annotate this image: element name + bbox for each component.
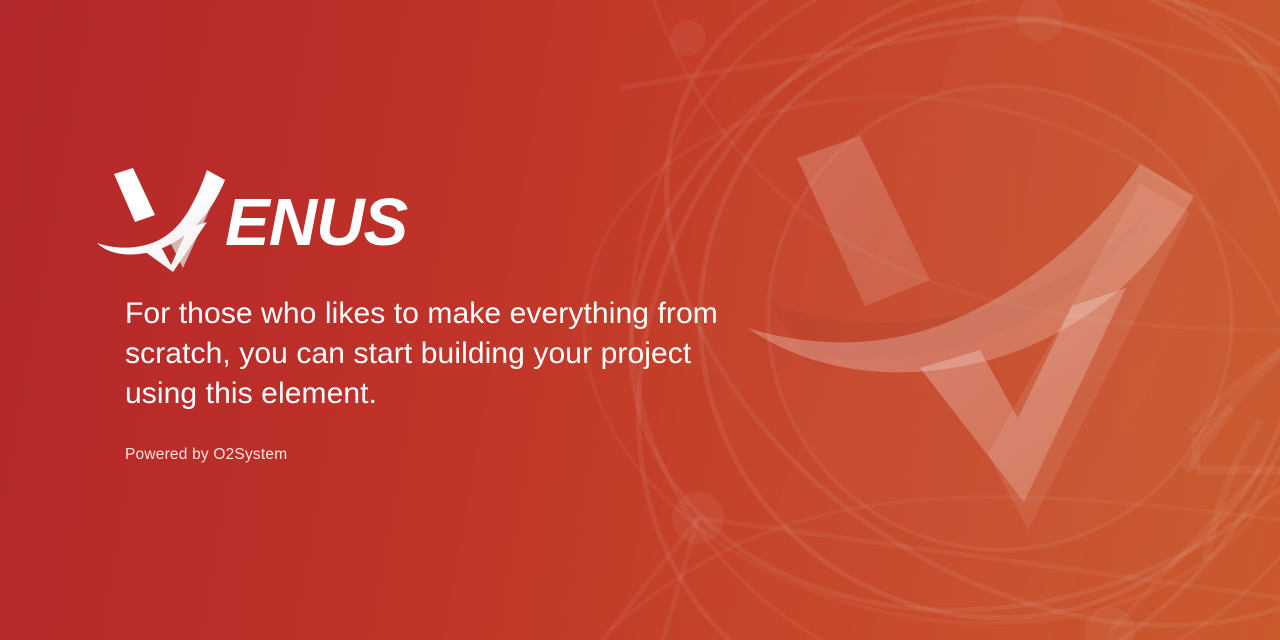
brand-logo-lockup[interactable]: ENUS (97, 168, 407, 272)
sheen-bands (700, 0, 1280, 640)
brand-wordmark: ENUS (225, 189, 407, 256)
watermark-swoosh (748, 164, 1194, 372)
concentric-rings (768, 86, 1232, 550)
hero-banner: ENUS For those who likes to make everyth… (0, 0, 1280, 640)
hero-content: ENUS For those who likes to make everyth… (125, 0, 745, 640)
watermark-bar (797, 136, 930, 306)
powered-by-label: Powered by O2System (125, 444, 287, 466)
venus-check-logo-watermark-icon (742, 100, 1262, 530)
hero-tagline: For those who likes to make everything f… (125, 294, 725, 414)
outline-swoosh (1190, 348, 1280, 560)
watermark-tail (988, 184, 1190, 530)
venus-check-logo-icon (97, 168, 237, 272)
outline-chevron-icon (1185, 282, 1280, 470)
logo-bar (114, 168, 155, 222)
orbit-node (1085, 607, 1135, 640)
watermark-tick (920, 288, 1126, 502)
orbit-node (1017, 0, 1063, 41)
watermark-swoosh-shadow (766, 202, 1154, 360)
logo-swoosh (97, 170, 225, 255)
